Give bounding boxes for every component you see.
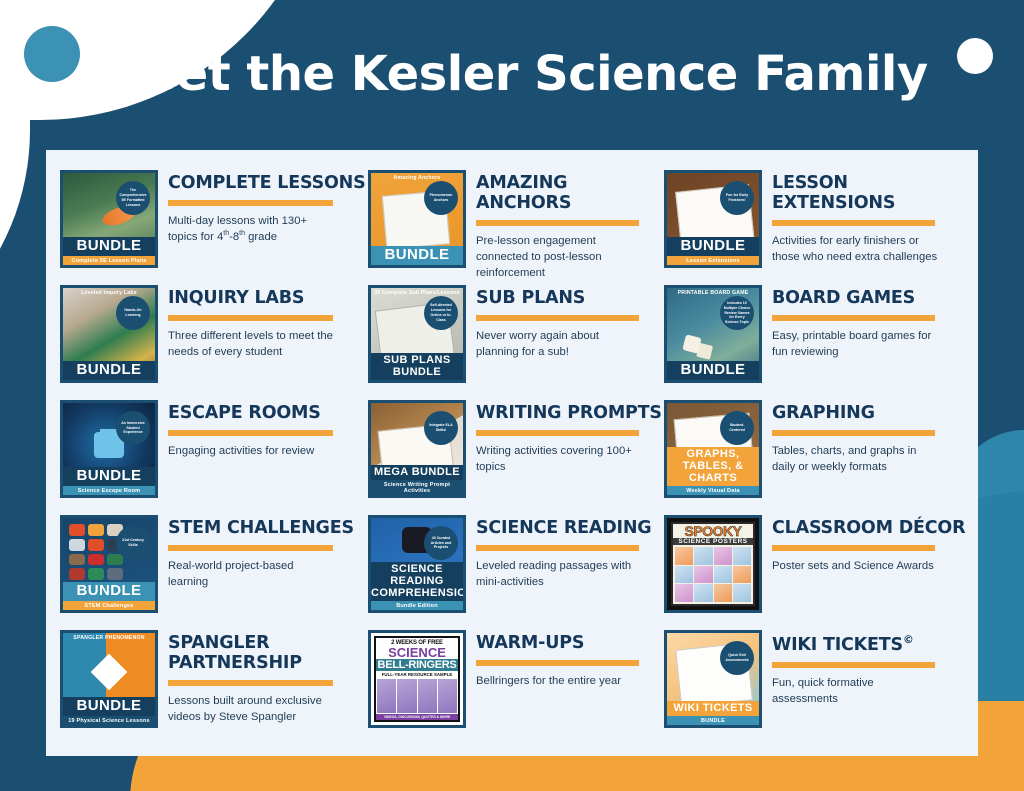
product-text: COMPLETE LESSONSMulti-day lessons with 1… bbox=[168, 170, 368, 245]
cover-badge: Student-Centered bbox=[720, 411, 754, 445]
warmups-cover: 2 WEEKS OF FREESCIENCEBELL-RINGERSFULL-Y… bbox=[374, 636, 460, 722]
cover-bundle-label: MEGA BUNDLE bbox=[371, 465, 463, 480]
cover-bottom-band: BUNDLESTEM Challenges bbox=[63, 582, 155, 611]
product-thumbnail[interactable]: 21st Century SkillsBUNDLESTEM Challenges bbox=[60, 515, 158, 613]
product-description: Fun, quick formative assessments bbox=[772, 675, 938, 707]
product-title: GRAPHING bbox=[772, 404, 970, 424]
cover-bundle-label: SUB PLANS BUNDLE bbox=[371, 353, 463, 380]
cover-bundle-label: SCIENCE READING COMPREHENSION bbox=[371, 562, 463, 601]
product-text: LESSON EXTENSIONSActivities for early fi… bbox=[772, 170, 970, 265]
stem-icon bbox=[69, 568, 85, 580]
product-title: COMPLETE LESSONS bbox=[168, 174, 368, 194]
product-description: Poster sets and Science Awards bbox=[772, 558, 938, 574]
product-thumbnail[interactable]: Fun for Early Finishers!BUNDLELesson Ext… bbox=[664, 170, 762, 268]
product-thumbnail[interactable]: 2 WEEKS OF FREESCIENCEBELL-RINGERSFULL-Y… bbox=[368, 630, 466, 728]
orange-divider bbox=[772, 545, 935, 551]
product-title: LESSON EXTENSIONS bbox=[772, 174, 970, 214]
orange-divider bbox=[476, 220, 639, 226]
poster-preview-cell bbox=[733, 566, 751, 584]
product-grid: The Comprehensive 5E Formatted LessonsBU… bbox=[60, 164, 968, 739]
product-description: Easy, printable board games for fun revi… bbox=[772, 328, 938, 360]
stem-icon bbox=[88, 524, 104, 536]
cover-bundle-label: BUNDLE bbox=[63, 582, 155, 602]
cover-badge: An Immersive Student Experience bbox=[116, 411, 150, 445]
product-thumbnail[interactable]: Student-CenteredGRAPHS, TABLES, & CHARTS… bbox=[664, 400, 762, 498]
cover-bundle-label: BUNDLE bbox=[63, 237, 155, 257]
cover-badge: 40 Curated Articles and Projects bbox=[424, 526, 458, 560]
orange-divider bbox=[476, 545, 639, 551]
product-item[interactable]: Quick Exit AssessmentsWIKI TICKETSBUNDLE… bbox=[664, 624, 970, 739]
poster-preview-cell bbox=[675, 566, 693, 584]
cover-thumbnail-cell bbox=[377, 679, 396, 713]
product-item[interactable]: 40 Curated Articles and ProjectsSCIENCE … bbox=[368, 509, 664, 624]
poster-preview-cell bbox=[694, 584, 712, 602]
product-description: Real-world project-based learning bbox=[168, 558, 336, 590]
cover-bottom-band: BUNDLE bbox=[667, 361, 759, 381]
cover-sub-band: Science Escape Room bbox=[63, 486, 155, 495]
product-description: Engaging activities for review bbox=[168, 443, 336, 459]
product-title: CLASSROOM DÉCOR bbox=[772, 519, 970, 539]
cover-badge: Phenomenon Anchors bbox=[424, 181, 458, 215]
product-title: SCIENCE READING bbox=[476, 519, 664, 539]
cover-sub-band: Complete 5E Lesson Plans bbox=[63, 256, 155, 265]
product-thumbnail[interactable]: 40 Curated Articles and ProjectsSCIENCE … bbox=[368, 515, 466, 613]
cover-bottom-band: BUNDLE bbox=[371, 246, 463, 266]
cover-footer: VIDEOS, DISCUSSION, QUOTES & MORE bbox=[376, 714, 458, 720]
product-item[interactable]: Student-CenteredGRAPHS, TABLES, & CHARTS… bbox=[664, 394, 970, 509]
product-description: Multi-day lessons with 130+ topics for 4… bbox=[168, 213, 336, 245]
product-text: WARM-UPSBellringers for the entire year bbox=[476, 630, 664, 689]
page-title: Meet the Kesler Science Family bbox=[0, 46, 1024, 102]
orange-divider bbox=[772, 662, 935, 668]
cover-bottom-band: BUNDLELesson Extensions bbox=[667, 237, 759, 266]
cover-bundle-label: GRAPHS, TABLES, & CHARTS bbox=[667, 447, 759, 486]
orange-divider bbox=[168, 430, 333, 436]
product-item[interactable]: SPANGLER PHENOMENONBUNDLE19 Physical Sci… bbox=[60, 624, 368, 739]
spooky-poster-cover: SPOOKYSCIENCE POSTERS bbox=[671, 522, 755, 606]
product-description: Activities for early finishers or those … bbox=[772, 233, 938, 265]
poster-preview-cell bbox=[714, 584, 732, 602]
cover-bottom-band: SCIENCE READING COMPREHENSIONBundle Edit… bbox=[371, 562, 463, 610]
cover-sub-band: Lesson Extensions bbox=[667, 256, 759, 265]
product-text: INQUIRY LABSThree different levels to me… bbox=[168, 285, 368, 360]
product-item[interactable]: The Comprehensive 5E Formatted LessonsBU… bbox=[60, 164, 368, 279]
cover-bottom-band: GRAPHS, TABLES, & CHARTSWeekly Visual Da… bbox=[667, 447, 759, 495]
product-item[interactable]: 21st Century SkillsBUNDLESTEM Challenges… bbox=[60, 509, 368, 624]
cover-thumbnail-grid bbox=[376, 678, 458, 714]
product-thumbnail[interactable]: PRINTABLE BOARD GAMEIncludes 10 Multiple… bbox=[664, 285, 762, 383]
poster-canvas: Meet the Kesler Science Family The Compr… bbox=[0, 0, 1024, 791]
cover-thumbnail-cell bbox=[397, 679, 416, 713]
product-text: GRAPHINGTables, charts, and graphs in da… bbox=[772, 400, 970, 475]
cover-bottom-band: BUNDLEScience Escape Room bbox=[63, 467, 155, 496]
product-item[interactable]: PRINTABLE BOARD GAMEIncludes 10 Multiple… bbox=[664, 279, 970, 394]
cover-badge: 21st Century Skills bbox=[116, 526, 150, 560]
product-description: Never worry again about planning for a s… bbox=[476, 328, 642, 360]
product-thumbnail[interactable]: SPOOKYSCIENCE POSTERS bbox=[664, 515, 762, 613]
product-description: Pre-lesson engagement connected to post-… bbox=[476, 233, 642, 281]
orange-divider bbox=[772, 315, 935, 321]
stem-icon bbox=[69, 524, 85, 536]
product-item[interactable]: Leveled Inquiry LabsHands-On LearningBUN… bbox=[60, 279, 368, 394]
orange-divider bbox=[476, 315, 639, 321]
cover-bundle-label: BUNDLE bbox=[63, 467, 155, 487]
stem-icon bbox=[88, 539, 104, 551]
product-thumbnail[interactable]: Quick Exit AssessmentsWIKI TICKETSBUNDLE bbox=[664, 630, 762, 728]
cover-badge: The Comprehensive 5E Formatted Lessons bbox=[116, 181, 150, 215]
product-item[interactable]: 30 Complete Sub Plans/LessonsSelf-direct… bbox=[368, 279, 664, 394]
product-thumbnail[interactable]: 30 Complete Sub Plans/LessonsSelf-direct… bbox=[368, 285, 466, 383]
product-item[interactable]: Fun for Early Finishers!BUNDLELesson Ext… bbox=[664, 164, 970, 279]
product-thumbnail[interactable]: An Immersive Student ExperienceBUNDLESci… bbox=[60, 400, 158, 498]
cover-sub-band: Bundle Edition bbox=[371, 601, 463, 610]
product-text: WRITING PROMPTSWriting activities coveri… bbox=[476, 400, 664, 475]
cover-bottom-band: SUB PLANS BUNDLE bbox=[371, 353, 463, 380]
cover-thumbnail-cell bbox=[418, 679, 437, 713]
orange-divider bbox=[476, 430, 639, 436]
poster-preview-cell bbox=[694, 547, 712, 565]
cover-sub-band: STEM Challenges bbox=[63, 601, 155, 610]
product-description: Tables, charts, and graphs in daily or w… bbox=[772, 443, 938, 475]
product-item[interactable]: 2 WEEKS OF FREESCIENCEBELL-RINGERSFULL-Y… bbox=[368, 624, 664, 739]
product-title: BOARD GAMES bbox=[772, 289, 970, 309]
stem-icon bbox=[69, 539, 85, 551]
cover-line-2: SCIENCE bbox=[376, 646, 458, 659]
cover-badge: Includes 10 Multiple Choice Review Games… bbox=[720, 296, 754, 330]
product-title: SUB PLANS bbox=[476, 289, 664, 309]
cover-thumbnail-cell bbox=[438, 679, 457, 713]
cover-badge: Quick Exit Assessments bbox=[720, 641, 754, 675]
product-title: AMAZING ANCHORS bbox=[476, 174, 664, 214]
cover-sub-band: Weekly Visual Data bbox=[667, 486, 759, 495]
cover-bundle-label: BUNDLE bbox=[63, 697, 155, 717]
cover-sub-band: 19 Physical Science Lessons bbox=[63, 716, 155, 725]
cover-bundle-label: BUNDLE bbox=[667, 237, 759, 257]
product-thumbnail[interactable]: Amazing AnchorsPhenomenon AnchorsBUNDLE bbox=[368, 170, 466, 268]
cover-line-3: BELL-RINGERS bbox=[376, 659, 458, 671]
product-title: WIKI TICKETS© bbox=[772, 634, 970, 656]
product-title: SPANGLER PARTNERSHIP bbox=[168, 634, 368, 674]
cover-bundle-label: BUNDLE bbox=[63, 361, 155, 381]
cover-bottom-band: BUNDLE bbox=[63, 361, 155, 381]
product-thumbnail[interactable]: The Comprehensive 5E Formatted LessonsBU… bbox=[60, 170, 158, 268]
product-text: WIKI TICKETS©Fun, quick formative assess… bbox=[772, 630, 970, 707]
stem-icon bbox=[107, 568, 123, 580]
product-title: WARM-UPS bbox=[476, 634, 664, 654]
cover-badge: Integrate ELA Skills! bbox=[424, 411, 458, 445]
cover-bundle-label: BUNDLE bbox=[371, 246, 463, 266]
cover-bottom-band: MEGA BUNDLEScience Writing Prompt Activi… bbox=[371, 465, 463, 495]
product-item[interactable]: SPOOKYSCIENCE POSTERSCLASSROOM DÉCORPost… bbox=[664, 509, 970, 624]
poster-preview-grid bbox=[673, 545, 753, 604]
product-grid-card: The Comprehensive 5E Formatted LessonsBU… bbox=[46, 150, 978, 756]
product-thumbnail[interactable]: Leveled Inquiry LabsHands-On LearningBUN… bbox=[60, 285, 158, 383]
orange-divider bbox=[168, 680, 333, 686]
product-title: ESCAPE ROOMS bbox=[168, 404, 368, 424]
cover-top-label: SPANGLER PHENOMENON bbox=[63, 633, 155, 645]
poster-preview-cell bbox=[733, 584, 751, 602]
cover-line-1: SPOOKY bbox=[673, 524, 753, 538]
product-text: ESCAPE ROOMSEngaging activities for revi… bbox=[168, 400, 368, 459]
product-text: AMAZING ANCHORSPre-lesson engagement con… bbox=[476, 170, 664, 281]
stem-icon-grid bbox=[69, 524, 123, 580]
product-item[interactable]: Amazing AnchorsPhenomenon AnchorsBUNDLEA… bbox=[368, 164, 664, 279]
product-text: CLASSROOM DÉCORPoster sets and Science A… bbox=[772, 515, 970, 574]
cover-bundle-label: WIKI TICKETS bbox=[667, 701, 759, 716]
product-thumbnail[interactable]: SPANGLER PHENOMENONBUNDLE19 Physical Sci… bbox=[60, 630, 158, 728]
product-description: Leveled reading passages with mini-activ… bbox=[476, 558, 642, 590]
cover-badge: Self-directed Lessons for Online or In-C… bbox=[424, 296, 458, 330]
cover-line-4: FULL-YEAR RESOURCE SAMPLE bbox=[376, 671, 458, 678]
product-description: Three different levels to meet the needs… bbox=[168, 328, 336, 360]
product-item[interactable]: Integrate ELA Skills!MEGA BUNDLEScience … bbox=[368, 394, 664, 509]
product-title: STEM CHALLENGES bbox=[168, 519, 368, 539]
cover-sub-band: Science Writing Prompt Activities bbox=[371, 480, 463, 495]
poster-preview-cell bbox=[714, 566, 732, 584]
orange-divider bbox=[476, 660, 639, 666]
cover-bottom-band: WIKI TICKETSBUNDLE bbox=[667, 701, 759, 725]
product-text: BOARD GAMESEasy, printable board games f… bbox=[772, 285, 970, 360]
orange-divider bbox=[168, 545, 333, 551]
product-description: Writing activities covering 100+ topics bbox=[476, 443, 642, 475]
product-item[interactable]: An Immersive Student ExperienceBUNDLESci… bbox=[60, 394, 368, 509]
cover-bottom-band: BUNDLEComplete 5E Lesson Plans bbox=[63, 237, 155, 266]
poster-preview-cell bbox=[714, 547, 732, 565]
product-title: WRITING PROMPTS bbox=[476, 404, 664, 424]
cover-sub-band: BUNDLE bbox=[667, 716, 759, 725]
cover-badge: Fun for Early Finishers! bbox=[720, 181, 754, 215]
product-text: SCIENCE READINGLeveled reading passages … bbox=[476, 515, 664, 590]
stem-icon bbox=[69, 554, 85, 566]
orange-divider bbox=[168, 200, 333, 206]
poster-preview-cell bbox=[675, 584, 693, 602]
cover-bottom-band: BUNDLE19 Physical Science Lessons bbox=[63, 697, 155, 726]
orange-divider bbox=[772, 430, 935, 436]
cover-badge: Hands-On Learning bbox=[116, 296, 150, 330]
product-text: SPANGLER PARTNERSHIPLessons built around… bbox=[168, 630, 368, 725]
orange-divider bbox=[168, 315, 333, 321]
product-text: SUB PLANSNever worry again about plannin… bbox=[476, 285, 664, 360]
orange-divider bbox=[772, 220, 935, 226]
product-description: Lessons built around exclusive videos by… bbox=[168, 693, 336, 725]
poster-preview-cell bbox=[694, 566, 712, 584]
product-text: STEM CHALLENGESReal-world project-based … bbox=[168, 515, 368, 590]
stem-icon bbox=[88, 554, 104, 566]
cover-line-2: SCIENCE POSTERS bbox=[673, 538, 753, 545]
copyright-symbol: © bbox=[903, 633, 914, 646]
cover-bundle-label: BUNDLE bbox=[667, 361, 759, 381]
poster-preview-cell bbox=[675, 547, 693, 565]
product-thumbnail[interactable]: Integrate ELA Skills!MEGA BUNDLEScience … bbox=[368, 400, 466, 498]
product-description: Bellringers for the entire year bbox=[476, 673, 642, 689]
poster-preview-cell bbox=[733, 547, 751, 565]
stem-icon bbox=[88, 568, 104, 580]
product-title: INQUIRY LABS bbox=[168, 289, 368, 309]
